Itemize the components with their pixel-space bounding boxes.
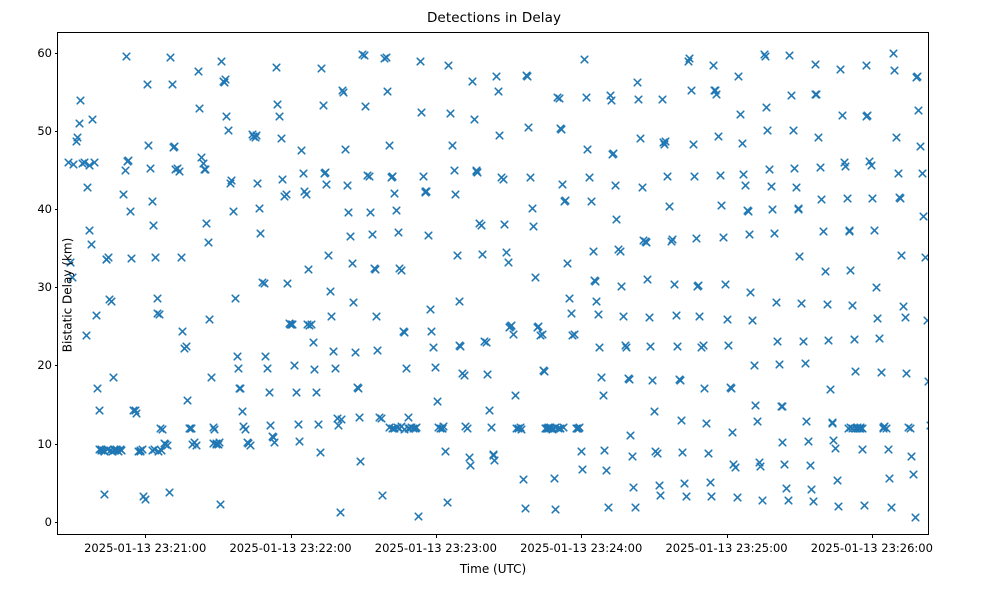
scatter-point-x-marker — [287, 320, 296, 329]
scatter-point-x-marker — [78, 159, 87, 168]
scatter-point-x-marker — [551, 423, 560, 432]
scatter-point-x-marker — [265, 388, 274, 397]
y-axis-tick-mark — [55, 131, 59, 132]
scatter-point-x-marker — [528, 204, 537, 213]
scatter-point-x-marker — [453, 251, 462, 260]
scatter-point-x-marker — [273, 100, 282, 109]
scatter-point-x-marker — [853, 423, 862, 432]
scatter-point-x-marker — [614, 245, 623, 254]
scatter-point-x-marker — [106, 446, 115, 455]
scatter-point-x-marker — [494, 87, 503, 96]
scatter-point-x-marker — [848, 424, 857, 433]
y-axis-tick-label: 10 — [37, 437, 52, 451]
scatter-point-x-marker — [320, 169, 329, 178]
scatter-point-x-marker — [512, 424, 521, 433]
scatter-point-x-marker — [411, 424, 420, 433]
scatter-point-x-marker — [113, 446, 122, 455]
scatter-point-x-marker — [105, 295, 114, 304]
scatter-point-x-marker — [226, 179, 235, 188]
scatter-point-x-marker — [845, 226, 854, 235]
scatter-point-x-marker — [734, 72, 743, 81]
scatter-point-x-marker — [421, 188, 430, 197]
scatter-point-x-marker — [782, 484, 791, 493]
scatter-point-x-marker — [895, 193, 904, 202]
scatter-point-x-marker — [246, 441, 255, 450]
scatter-point-x-marker — [219, 77, 228, 86]
scatter-point-x-marker — [368, 230, 377, 239]
scatter-point-x-marker — [358, 50, 367, 59]
scatter-point-x-marker — [538, 330, 547, 339]
scatter-point-x-marker — [290, 361, 299, 370]
scatter-point-x-marker — [743, 206, 752, 215]
y-axis-tick-label: 0 — [45, 515, 52, 529]
scatter-point-x-marker — [383, 87, 392, 96]
scatter-point-x-marker — [489, 450, 498, 459]
scatter-point-x-marker — [744, 207, 753, 216]
scatter-point-x-marker — [831, 444, 840, 453]
x-axis-tick-label: 2025-01-13 23:26:00 — [811, 541, 933, 555]
scatter-point-x-marker — [487, 423, 496, 432]
scatter-point-x-marker — [175, 167, 184, 176]
scatter-point-x-marker — [136, 447, 145, 456]
scatter-point-x-marker — [902, 369, 911, 378]
scatter-point-x-marker — [706, 478, 715, 487]
scatter-point-x-marker — [95, 406, 104, 415]
scatter-point-x-marker — [608, 150, 617, 159]
scatter-point-x-marker — [121, 166, 130, 175]
scatter-point-x-marker — [231, 294, 240, 303]
scatter-point-x-marker — [556, 424, 565, 433]
scatter-point-x-marker — [178, 327, 187, 336]
scatter-point-x-marker — [436, 424, 445, 433]
scatter-point-x-marker — [794, 204, 803, 213]
x-axis-tick-label: 2025-01-13 23:23:00 — [375, 541, 497, 555]
scatter-point-x-marker — [814, 133, 823, 142]
scatter-point-x-marker — [807, 485, 816, 494]
scatter-point-x-marker — [560, 197, 569, 206]
scatter-point-x-marker — [697, 343, 706, 352]
scatter-point-x-marker — [426, 305, 435, 314]
scatter-point-x-marker — [312, 388, 321, 397]
scatter-point-x-marker — [360, 51, 369, 60]
scatter-point-x-marker — [305, 321, 314, 330]
scatter-point-x-marker — [809, 497, 818, 506]
scatter-point-x-marker — [746, 288, 755, 297]
scatter-point-x-marker — [269, 433, 278, 442]
scatter-point-x-marker — [85, 161, 94, 170]
scatter-point-x-marker — [388, 172, 397, 181]
scatter-point-x-marker — [600, 446, 609, 455]
scatter-point-x-marker — [183, 396, 192, 405]
x-axis-tick-mark — [291, 534, 292, 538]
scatter-point-x-marker — [896, 194, 905, 203]
scatter-point-x-marker — [414, 512, 423, 521]
scatter-point-x-marker — [873, 314, 882, 323]
scatter-point-x-marker — [215, 438, 224, 447]
scatter-point-x-marker — [656, 491, 665, 500]
scatter-point-x-marker — [879, 424, 888, 433]
scatter-point-x-marker — [300, 187, 309, 196]
scatter-point-x-marker — [901, 313, 910, 322]
scatter-point-x-marker — [353, 383, 362, 392]
scatter-point-x-marker — [90, 158, 99, 167]
scatter-point-x-marker — [848, 301, 857, 310]
scatter-point-x-marker — [302, 190, 311, 199]
scatter-point-x-marker — [100, 490, 109, 499]
scatter-point-x-marker — [495, 131, 504, 140]
scatter-point-x-marker — [294, 420, 303, 429]
scatter-point-x-marker — [582, 93, 591, 102]
scatter-point-x-marker — [790, 164, 799, 173]
scatter-point-x-marker — [543, 424, 552, 433]
scatter-point-x-marker — [416, 57, 425, 66]
scatter-point-x-marker — [460, 371, 469, 380]
scatter-point-x-marker — [475, 219, 484, 228]
scatter-point-x-marker — [624, 374, 633, 383]
scatter-point-x-marker — [616, 247, 625, 256]
scatter-point-x-marker — [136, 446, 145, 455]
x-axis-label: Time (UTC) — [57, 562, 929, 576]
scatter-point-x-marker — [646, 342, 655, 351]
scatter-point-x-marker — [354, 384, 363, 393]
scatter-point-x-marker — [116, 445, 125, 454]
scatter-point-x-marker — [738, 139, 747, 148]
scatter-point-x-marker — [263, 364, 272, 373]
scatter-point-x-marker — [239, 422, 248, 431]
scatter-point-x-marker — [112, 445, 121, 454]
scatter-point-x-marker — [894, 169, 903, 178]
scatter-point-x-marker — [844, 424, 853, 433]
scatter-point-x-marker — [209, 423, 218, 432]
scatter-point-x-marker — [158, 425, 167, 434]
scatter-point-x-marker — [280, 192, 289, 201]
y-axis-tick-mark — [55, 522, 59, 523]
scatter-point-x-marker — [82, 331, 91, 340]
scatter-point-x-marker — [867, 161, 876, 170]
scatter-point-x-marker — [194, 67, 203, 76]
scatter-point-x-marker — [92, 311, 101, 320]
scatter-point-x-marker — [919, 212, 928, 221]
scatter-point-x-marker — [650, 407, 659, 416]
scatter-point-x-marker — [154, 447, 163, 456]
scatter-point-x-marker — [473, 168, 482, 177]
scatter-point-x-marker — [856, 424, 865, 433]
scatter-point-x-marker — [478, 250, 487, 259]
scatter-point-x-marker — [750, 361, 759, 370]
scatter-point-x-marker — [205, 315, 214, 324]
scatter-point-x-marker — [726, 383, 735, 392]
scatter-point-x-marker — [789, 126, 798, 135]
scatter-point-x-marker — [117, 446, 126, 455]
scatter-point-x-marker — [99, 446, 108, 455]
scatter-point-x-marker — [166, 53, 175, 62]
scatter-point-x-marker — [363, 171, 372, 180]
scatter-point-x-marker — [667, 237, 676, 246]
scatter-point-x-marker — [604, 503, 613, 512]
scatter-point-x-marker — [303, 320, 312, 329]
scatter-point-x-marker — [138, 445, 147, 454]
scatter-point-x-marker — [351, 348, 360, 357]
scatter-point-x-marker — [687, 86, 696, 95]
scatter-point-x-marker — [889, 49, 898, 58]
x-axis-tick-mark — [872, 534, 873, 538]
scatter-point-x-marker — [675, 375, 684, 384]
scatter-point-x-marker — [229, 207, 238, 216]
scatter-point-x-marker — [811, 60, 820, 69]
scatter-point-x-marker — [197, 153, 206, 162]
scatter-point-x-marker — [753, 417, 762, 426]
scatter-point-x-marker — [692, 234, 701, 243]
scatter-point-x-marker — [590, 276, 599, 285]
scatter-point-x-marker — [186, 424, 195, 433]
scatter-point-x-marker — [326, 287, 335, 296]
scatter-point-x-marker — [870, 226, 879, 235]
scatter-point-x-marker — [385, 423, 394, 432]
scatter-point-x-marker — [185, 424, 194, 433]
scatter-point-x-marker — [570, 330, 579, 339]
scatter-point-x-marker — [578, 465, 587, 474]
scatter-point-x-marker — [110, 445, 119, 454]
scatter-point-x-marker — [309, 338, 318, 347]
scatter-point-x-marker — [541, 424, 550, 433]
scatter-point-x-marker — [899, 302, 908, 311]
scatter-point-x-marker — [333, 414, 342, 423]
scatter-point-x-marker — [678, 448, 687, 457]
scatter-point-x-marker — [690, 172, 699, 181]
scatter-point-x-marker — [343, 181, 352, 190]
scatter-point-x-marker — [580, 55, 589, 64]
scatter-point-x-marker — [253, 179, 262, 188]
scatter-point-x-marker — [714, 132, 723, 141]
scatter-point-x-marker — [123, 157, 132, 166]
scatter-point-x-marker — [765, 165, 774, 174]
scatter-point-x-marker — [114, 447, 123, 456]
scatter-point-x-marker — [482, 338, 491, 347]
scatter-point-x-marker — [395, 424, 404, 433]
scatter-point-x-marker — [633, 78, 642, 87]
scatter-point-x-marker — [127, 254, 136, 263]
x-axis-tick-mark — [145, 534, 146, 538]
scatter-point-x-marker — [322, 180, 331, 189]
scatter-point-x-marker — [200, 165, 209, 174]
scatter-point-x-marker — [811, 90, 820, 99]
scatter-point-x-marker — [500, 220, 509, 229]
scatter-point-x-marker — [431, 363, 440, 372]
scatter-point-x-marker — [334, 421, 343, 430]
scatter-point-x-marker — [609, 149, 618, 158]
scatter-plot-area — [58, 33, 928, 534]
scatter-point-x-marker — [606, 91, 615, 100]
scatter-point-x-marker — [506, 322, 515, 331]
scatter-point-x-marker — [187, 424, 196, 433]
scatter-point-x-marker — [711, 86, 720, 95]
scatter-point-x-marker — [761, 52, 770, 61]
scatter-point-x-marker — [736, 110, 745, 119]
scatter-point-x-marker — [611, 181, 620, 190]
scatter-point-x-marker — [336, 508, 345, 517]
scatter-point-x-marker — [395, 264, 404, 273]
scatter-point-x-marker — [741, 181, 750, 190]
scatter-point-x-marker — [554, 424, 563, 433]
scatter-point-x-marker — [868, 194, 877, 203]
scatter-point-x-marker — [261, 352, 270, 361]
scatter-point-x-marker — [248, 130, 257, 139]
scatter-point-x-marker — [838, 111, 847, 120]
scatter-point-x-marker — [840, 158, 849, 167]
scatter-point-x-marker — [277, 134, 286, 143]
scatter-point-x-marker — [102, 255, 111, 264]
scatter-point-x-marker — [108, 447, 117, 456]
scatter-point-x-marker — [768, 205, 777, 214]
scatter-point-x-marker — [104, 253, 113, 262]
scatter-point-x-marker — [109, 373, 118, 382]
scatter-point-x-marker — [517, 425, 526, 434]
scatter-point-x-marker — [485, 406, 494, 415]
scatter-point-x-marker — [592, 297, 601, 306]
scatter-point-x-marker — [169, 143, 178, 152]
scatter-point-x-marker — [427, 327, 436, 336]
scatter-point-x-marker — [378, 491, 387, 500]
scatter-point-x-marker — [249, 132, 258, 141]
scatter-point-x-marker — [758, 496, 767, 505]
scatter-point-x-marker — [258, 278, 267, 287]
scatter-point-x-marker — [421, 187, 430, 196]
scatter-point-x-marker — [446, 109, 455, 118]
scatter-point-x-marker — [858, 445, 867, 454]
scatter-point-x-marker — [836, 65, 845, 74]
scatter-point-x-marker — [648, 376, 657, 385]
scatter-point-x-marker — [424, 231, 433, 240]
scatter-point-x-marker — [338, 86, 347, 95]
scatter-point-x-marker — [497, 173, 506, 182]
scatter-point-x-marker — [567, 309, 576, 318]
scatter-point-x-marker — [304, 265, 313, 274]
scatter-point-x-marker — [909, 470, 918, 479]
scatter-point-x-marker — [731, 463, 740, 472]
scatter-point-x-marker — [238, 407, 247, 416]
scatter-point-x-marker — [327, 312, 336, 321]
scatter-point-x-marker — [872, 283, 881, 292]
y-axis-tick-label: 60 — [37, 46, 52, 60]
scatter-point-x-marker — [270, 438, 279, 447]
scatter-point-x-marker — [665, 202, 674, 211]
scatter-point-x-marker — [385, 141, 394, 150]
scatter-point-x-marker — [828, 419, 837, 428]
y-axis-tick-label: 40 — [37, 202, 52, 216]
scatter-point-x-marker — [721, 280, 730, 289]
scatter-point-x-marker — [553, 93, 562, 102]
scatter-point-x-marker — [546, 424, 555, 433]
scatter-point-x-marker — [653, 449, 662, 458]
scatter-point-x-marker — [795, 252, 804, 261]
scatter-point-x-marker — [393, 423, 402, 432]
scatter-point-x-marker — [595, 343, 604, 352]
scatter-point-x-marker — [443, 498, 452, 507]
scatter-point-x-marker — [275, 112, 284, 121]
scatter-point-x-marker — [557, 125, 566, 134]
scatter-point-x-marker — [625, 375, 634, 384]
scatter-point-x-marker — [255, 204, 264, 213]
scatter-point-x-marker — [860, 501, 869, 510]
scatter-point-x-marker — [156, 424, 165, 433]
scatter-point-x-marker — [799, 337, 808, 346]
scatter-point-x-marker — [890, 66, 899, 75]
scatter-point-x-marker — [95, 445, 104, 454]
scatter-point-x-marker — [221, 75, 230, 84]
scatter-point-x-marker — [390, 424, 399, 433]
scatter-point-x-marker — [390, 189, 399, 198]
scatter-point-x-marker — [833, 476, 842, 485]
scatter-point-x-marker — [76, 96, 85, 105]
scatter-point-x-marker — [778, 402, 787, 411]
scatter-point-x-marker — [636, 134, 645, 143]
scatter-point-x-marker — [880, 422, 889, 431]
scatter-point-x-marker — [536, 331, 545, 340]
scatter-point-x-marker — [214, 440, 223, 449]
scatter-point-x-marker — [480, 337, 489, 346]
scatter-point-x-marker — [88, 115, 97, 124]
scatter-point-x-marker — [266, 421, 275, 430]
scatter-point-x-marker — [195, 104, 204, 113]
scatter-point-x-marker — [141, 495, 150, 504]
scatter-point-x-marker — [777, 402, 786, 411]
scatter-point-x-marker — [165, 488, 174, 497]
scatter-point-x-marker — [119, 190, 128, 199]
scatter-point-x-marker — [299, 169, 308, 178]
scatter-point-x-marker — [129, 406, 138, 415]
scatter-point-x-marker — [132, 409, 141, 418]
scatter-point-x-marker — [407, 423, 416, 432]
scatter-point-x-marker — [882, 424, 891, 433]
scatter-point-x-marker — [170, 142, 179, 151]
scatter-point-x-marker — [526, 173, 535, 182]
y-axis-tick-label: 20 — [37, 358, 52, 372]
scatter-point-x-marker — [549, 424, 558, 433]
scatter-point-x-marker — [921, 253, 928, 262]
scatter-point-x-marker — [310, 365, 319, 374]
scatter-point-x-marker — [619, 312, 628, 321]
scatter-point-x-marker — [850, 335, 859, 344]
scatter-point-x-marker — [812, 90, 821, 99]
scatter-point-x-marker — [693, 282, 702, 291]
scatter-point-x-marker — [641, 237, 650, 246]
x-axis-tick-mark — [727, 534, 728, 538]
scatter-point-x-marker — [243, 438, 252, 447]
scatter-point-x-marker — [785, 51, 794, 60]
scatter-point-x-marker — [394, 228, 403, 237]
scatter-point-x-marker — [222, 112, 231, 121]
scatter-point-x-marker — [509, 330, 518, 339]
scatter-point-x-marker — [349, 298, 358, 307]
scatter-point-x-marker — [278, 175, 287, 184]
scatter-point-x-marker — [163, 441, 172, 450]
scatter-point-x-marker — [412, 423, 421, 432]
scatter-point-x-marker — [739, 170, 748, 179]
scatter-point-x-marker — [884, 445, 893, 454]
scatter-point-x-marker — [885, 474, 894, 483]
scatter-point-x-marker — [122, 52, 131, 61]
scatter-point-x-marker — [450, 166, 459, 175]
scatter-point-x-marker — [834, 502, 843, 511]
scatter-point-x-marker — [292, 388, 301, 397]
scatter-point-x-marker — [283, 279, 292, 288]
scatter-point-x-marker — [260, 279, 269, 288]
scatter-point-x-marker — [400, 425, 409, 434]
scatter-point-x-marker — [913, 72, 922, 81]
scatter-point-x-marker — [451, 190, 460, 199]
scatter-point-x-marker — [377, 414, 386, 423]
scatter-point-x-marker — [235, 384, 244, 393]
